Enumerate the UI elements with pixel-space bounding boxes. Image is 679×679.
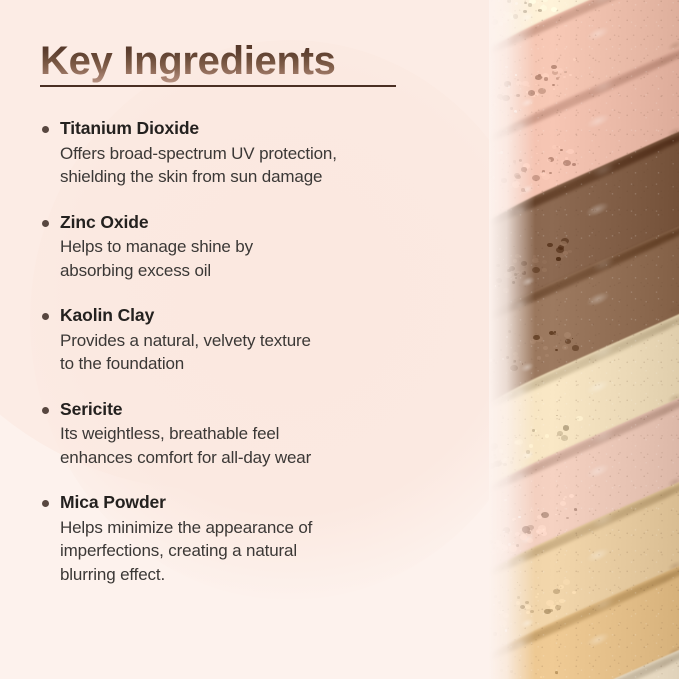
- bullet-dot-icon: [42, 313, 49, 320]
- bullet-dot-icon: [42, 407, 49, 414]
- ingredient-description: Offers broad-spectrum UV protection, shi…: [60, 142, 440, 189]
- list-item: Sericite Its weightless, breathable feel…: [40, 398, 440, 470]
- list-item: Titanium Dioxide Offers broad-spectrum U…: [40, 117, 440, 189]
- powder-swatch-image: [489, 0, 679, 679]
- title-block: Key Ingredients: [40, 40, 398, 87]
- list-item: Zinc Oxide Helps to manage shine by abso…: [40, 211, 440, 283]
- powder-bands-container: [489, 0, 679, 679]
- bullet-dot-icon: [42, 126, 49, 133]
- list-item: Kaolin Clay Provides a natural, velvety …: [40, 304, 440, 376]
- page-title: Key Ingredients: [40, 40, 336, 83]
- bullet-dot-icon: [42, 220, 49, 227]
- title-underline: [40, 85, 396, 87]
- ingredient-name: Mica Powder: [60, 491, 440, 515]
- bullet-dot-icon: [42, 500, 49, 507]
- ingredient-name: Kaolin Clay: [60, 304, 440, 328]
- ingredient-description: Provides a natural, velvety texture to t…: [60, 329, 440, 376]
- ingredient-name: Zinc Oxide: [60, 211, 440, 235]
- content-column: Key Ingredients Titanium Dioxide Offers …: [0, 0, 470, 679]
- list-item: Mica Powder Helps minimize the appearanc…: [40, 491, 440, 586]
- ingredient-description: Helps minimize the appearance of imperfe…: [60, 516, 440, 586]
- ingredient-description: Its weightless, breathable feel enhances…: [60, 422, 440, 469]
- ingredient-name: Titanium Dioxide: [60, 117, 440, 141]
- ingredient-description: Helps to manage shine by absorbing exces…: [60, 235, 440, 282]
- ingredient-name: Sericite: [60, 398, 440, 422]
- ingredient-list: Titanium Dioxide Offers broad-spectrum U…: [40, 117, 440, 586]
- powder-crumb-particles: [489, 0, 679, 679]
